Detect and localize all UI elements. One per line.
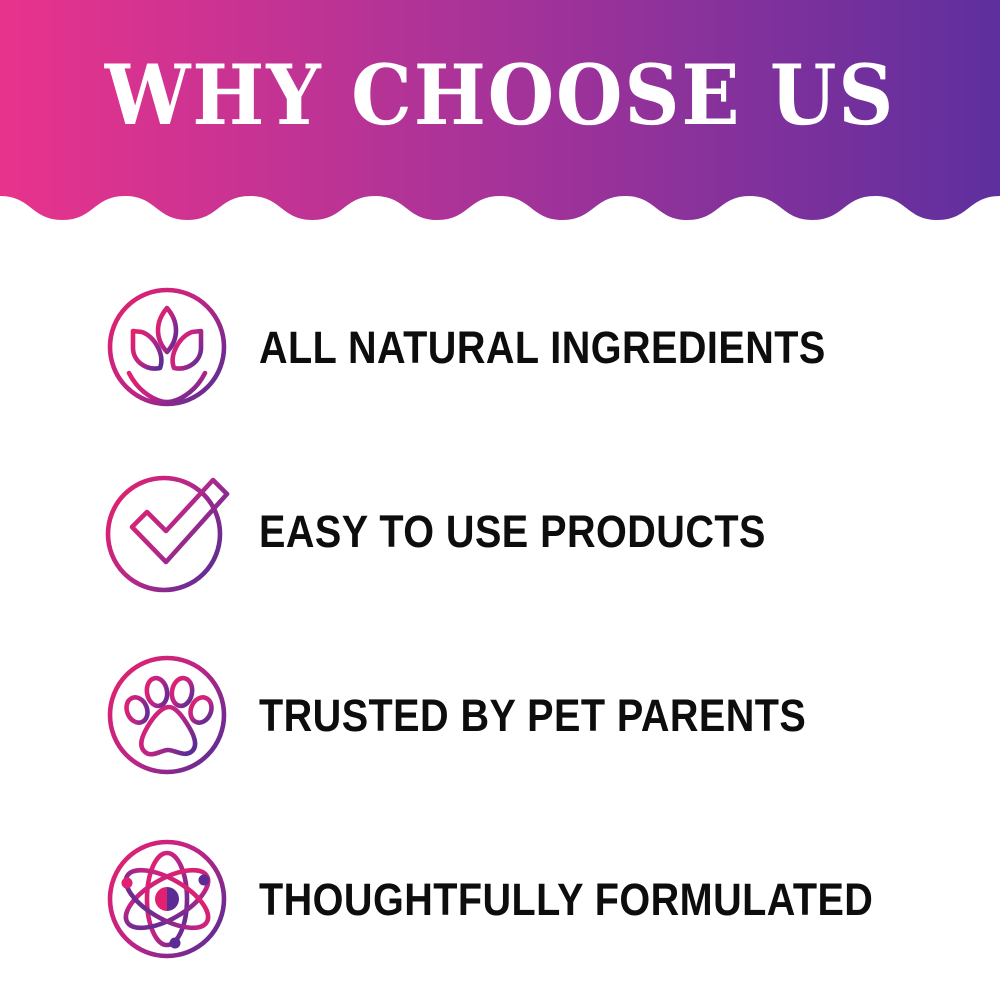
feature-item-trusted-by-pet-parents[interactable]: TRUSTED BY PET PARENTS [0,623,1000,807]
feature-item-easy-to-use-products[interactable]: EASY TO USE PRODUCTS [0,439,1000,623]
feature-item-all-natural-ingredients[interactable]: ALL NATURAL INGREDIENTS [0,255,1000,439]
plant-leaf-icon [103,283,231,411]
feature-label: THOUGHTFULLY FORMULATED [259,877,873,922]
feature-item-thoughtfully-formulated[interactable]: THOUGHTFULLY FORMULATED [0,807,1000,991]
feature-list: ALL NATURAL INGREDIENTS EASY TO US [0,255,1000,991]
feature-label: TRUSTED BY PET PARENTS [259,693,806,738]
checkmark-icon [103,467,231,595]
header-banner: WHY CHOOSE US [0,0,1000,225]
atom-icon [103,835,231,963]
page-title: WHY CHOOSE US [40,0,960,190]
feature-label: ALL NATURAL INGREDIENTS [259,325,826,370]
why-choose-us-page: WHY CHOOSE US [0,0,1000,1000]
feature-label: EASY TO USE PRODUCTS [259,509,766,554]
paw-print-icon [103,651,231,779]
